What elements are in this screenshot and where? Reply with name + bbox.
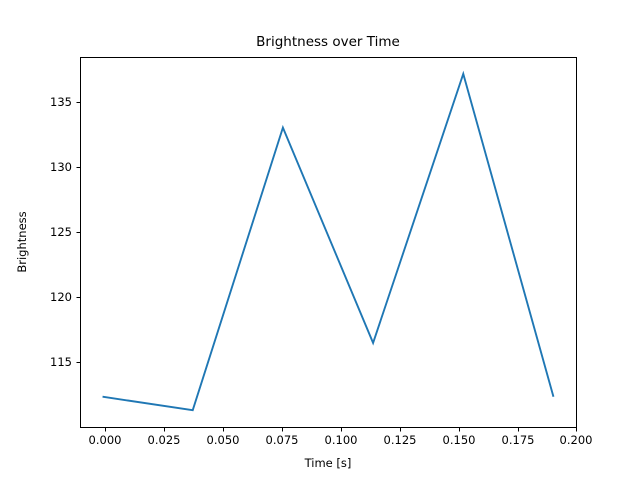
y-tick-label: 120 (50, 290, 72, 304)
x-tick-label: 0.175 (502, 433, 535, 447)
chart-title: Brightness over Time (256, 34, 400, 50)
y-tick-label: 135 (50, 95, 72, 109)
figure-canvas: Brightness over Time 0.000 0.025 0.050 0… (0, 0, 640, 480)
x-tick-label: 0.125 (384, 433, 417, 447)
y-axis-label: Brightness (15, 211, 29, 272)
x-tick-label: 0.100 (325, 433, 358, 447)
x-axis-label: Time [s] (304, 456, 352, 470)
x-tick-label: 0.050 (207, 433, 240, 447)
x-tick-labels: 0.000 0.025 0.050 0.075 0.100 0.125 0.15… (89, 433, 593, 447)
x-tick-label: 0.200 (560, 433, 593, 447)
y-tick-label: 125 (50, 225, 72, 239)
x-tick-label: 0.000 (89, 433, 122, 447)
y-tick-label: 130 (50, 160, 72, 174)
y-tick-label: 115 (50, 355, 72, 369)
x-tick-label: 0.150 (443, 433, 476, 447)
x-tick-label: 0.025 (148, 433, 181, 447)
x-tick-label: 0.075 (266, 433, 299, 447)
plot-area-background (80, 57, 576, 427)
line-chart: Brightness over Time 0.000 0.025 0.050 0… (0, 0, 640, 480)
